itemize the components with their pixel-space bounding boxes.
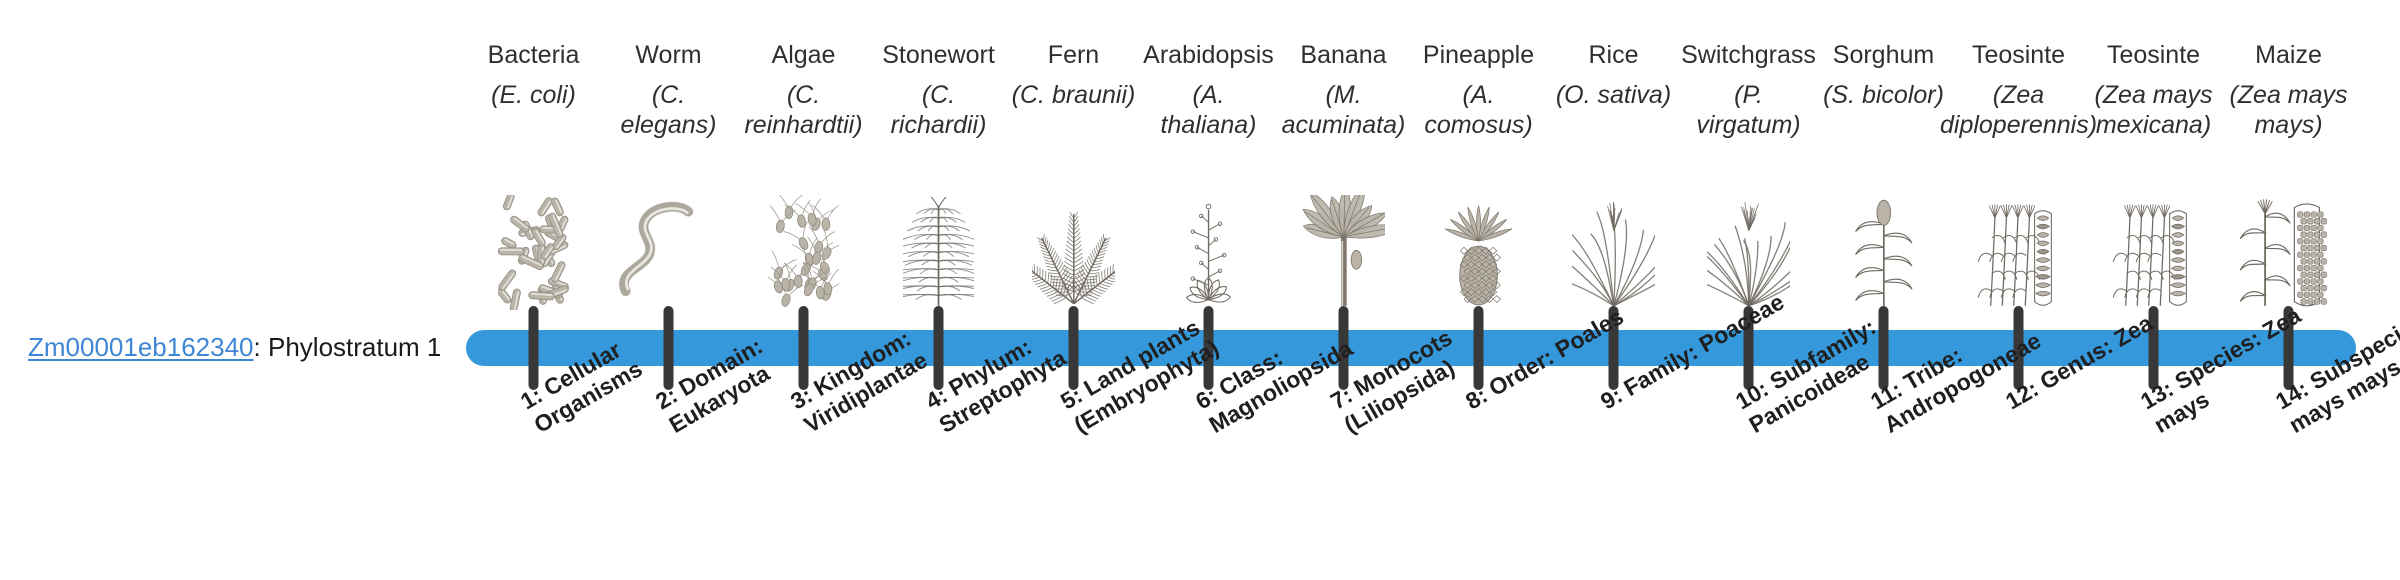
taxonomy-rank-number: 8: (1461, 382, 1492, 415)
taxonomy-rank-number: 9: (1596, 382, 1627, 415)
phylostratum-figure: Zm00001eb162340: Phylostratum 1 Bacteria… (0, 0, 2400, 580)
taxonomy-rank-text: Cellular Organisms (529, 336, 646, 438)
taxonomy-label-row: 1: Cellular Organisms2: Domain: Eukaryot… (0, 0, 2400, 580)
taxonomy-rank-number: 12: (2001, 375, 2043, 414)
taxonomy-rank-text: Subfamily: Panicoideae (1744, 313, 1880, 438)
